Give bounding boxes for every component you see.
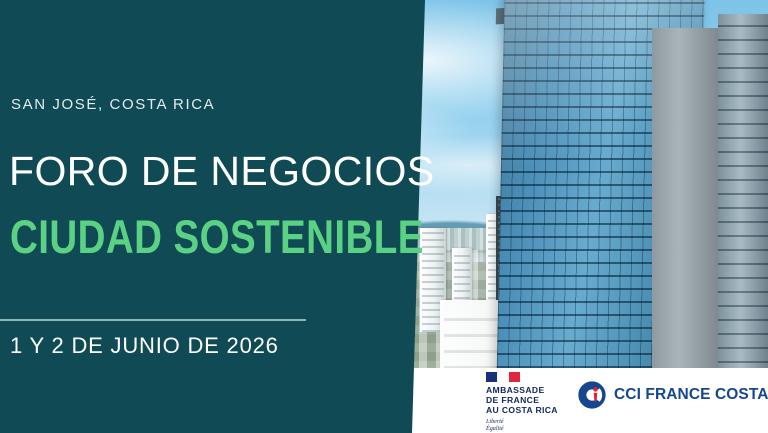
cci-logo[interactable]: CCI FRANCE COSTA RICA: [578, 381, 768, 409]
embassy-logo[interactable]: AMBASSADE DE FRANCE AU COSTA RICA Libert…: [486, 372, 558, 433]
french-flag-icon: [486, 372, 520, 382]
location-kicker: SAN JOSÉ, COSTA RICA: [11, 96, 215, 113]
cci-monogram-icon: [578, 381, 606, 409]
event-banner: SAN JOSÉ, COSTA RICA FORO DE NEGOCIOS CI…: [0, 0, 768, 433]
motto-egalite: Égalité: [486, 426, 558, 433]
banner-subtitle: CIUDAD SOSTENIBLE: [10, 209, 424, 264]
banner-text: SAN JOSÉ, COSTA RICA FORO DE NEGOCIOS CI…: [0, 0, 430, 433]
page-title: FORO DE NEGOCIOS: [9, 148, 435, 195]
embassy-line-1: AMBASSADE: [486, 385, 558, 395]
cci-logo-text: CCI FRANCE COSTA RICA: [614, 386, 768, 404]
divider: [0, 319, 306, 321]
embassy-line-2: DE FRANCE: [486, 395, 558, 405]
motto-liberte: Liberté: [486, 419, 558, 426]
event-date: 1 Y 2 DE JUNIO DE 2026: [10, 333, 279, 359]
embassy-line-3: AU COSTA RICA: [486, 405, 558, 415]
